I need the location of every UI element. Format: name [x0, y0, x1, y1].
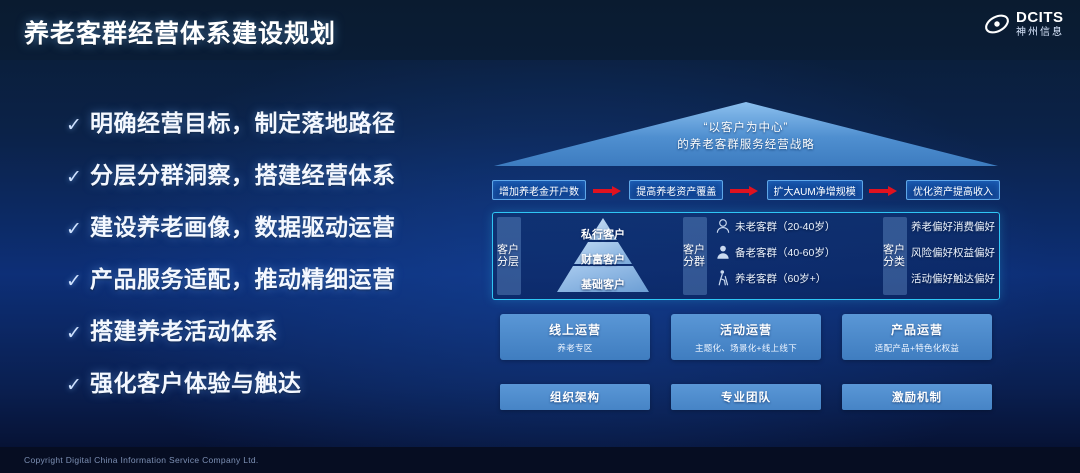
check-icon: ✓	[66, 322, 90, 345]
customer-group-list: 未老客群（20-40岁） 备老客群（40-60岁） 养老客群（60岁+）	[707, 213, 879, 299]
arrow-right-icon	[869, 186, 899, 195]
kpi-box[interactable]: 提高养老资产覆盖	[629, 180, 723, 200]
swirl-logo-icon	[984, 11, 1010, 37]
copyright-text: Copyright Digital China Information Serv…	[24, 455, 259, 465]
kpi-flow-row: 增加养老金开户数 提高养老资产覆盖 扩大AUM净增规模 优化资产提高收入	[492, 180, 1000, 200]
customer-category-tags: 养老偏好 消费偏好 风险偏好 权益偏好 活动偏好 触达偏好	[907, 213, 999, 299]
elderly-cane-icon	[714, 269, 732, 287]
tier-chip-label: 客户分层	[497, 217, 521, 295]
page-header: 养老客群经营体系建设规划 DCITS 神州信息	[0, 0, 1080, 60]
bullet-list: ✓ 明确经营目标，制定落地路径 ✓ 分层分群洞察，搭建经营体系 ✓ 建设养老画像…	[66, 104, 466, 416]
bullet-label: 产品服务适配，推动精细运营	[90, 260, 396, 294]
banner-text: “以客户为中心” 的养老客群服务经营战略	[492, 120, 1000, 153]
operation-card[interactable]: 活动运营 主题化、场景化+线上线下	[671, 314, 821, 360]
customer-segmentation-panel: 客户分层	[492, 212, 1000, 300]
logo-en-label: DCITS	[1016, 10, 1064, 25]
foundation-card[interactable]: 专业团队	[671, 384, 821, 410]
foundation-card[interactable]: 激励机制	[842, 384, 992, 410]
operation-subtitle: 主题化、场景化+线上线下	[695, 342, 797, 354]
arrow-right-icon	[593, 186, 623, 195]
logo-text: DCITS 神州信息	[1016, 10, 1064, 38]
kpi-box[interactable]: 扩大AUM净增规模	[767, 180, 863, 200]
bullet-label: 强化客户体验与触达	[90, 364, 302, 398]
operation-title: 活动运营	[720, 321, 772, 338]
operation-subtitle: 养老专区	[557, 342, 592, 354]
category-tag: 活动偏好	[911, 271, 953, 286]
kpi-box[interactable]: 优化资产提高收入	[906, 180, 1000, 200]
category-chip-label: 客户分类	[883, 217, 907, 295]
tier-level-label: 财富客户	[527, 251, 679, 267]
check-icon: ✓	[66, 166, 90, 189]
bullet-label: 建设养老画像，数据驱动运营	[90, 208, 396, 242]
strategy-diagram: “以客户为中心” 的养老客群服务经营战略 增加养老金开户数 提高养老资产覆盖 扩…	[492, 96, 1000, 426]
foundation-row: 组织架构 专业团队 激励机制	[500, 384, 992, 410]
check-icon: ✓	[66, 218, 90, 241]
group-item: 养老客群（60岁+）	[714, 265, 879, 291]
adult-person-icon	[714, 243, 732, 261]
bullet-item: ✓ 分层分群洞察，搭建经营体系	[66, 156, 466, 190]
bullet-item: ✓ 产品服务适配，推动精细运营	[66, 260, 466, 294]
kpi-box[interactable]: 增加养老金开户数	[492, 180, 586, 200]
bullet-label: 分层分群洞察，搭建经营体系	[90, 156, 396, 190]
arrow-right-icon	[730, 186, 760, 195]
bullet-label: 搭建养老活动体系	[90, 312, 278, 346]
category-tag: 权益偏好	[953, 245, 995, 260]
operation-title: 线上运营	[549, 321, 601, 338]
check-icon: ✓	[66, 270, 90, 293]
tier-level-label: 基础客户	[527, 276, 679, 292]
logo-cn-label: 神州信息	[1016, 28, 1064, 38]
bullet-item: ✓ 明确经营目标，制定落地路径	[66, 104, 466, 138]
bullet-item: ✓ 建设养老画像，数据驱动运营	[66, 208, 466, 242]
foundation-card[interactable]: 组织架构	[500, 384, 650, 410]
customer-tier-pyramid: 私行客户 财富客户 基础客户	[527, 214, 679, 298]
category-tag: 触达偏好	[953, 271, 995, 286]
operation-subtitle: 适配产品+特色化权益	[875, 342, 959, 354]
operation-title: 产品运营	[891, 321, 943, 338]
category-tag: 风险偏好	[911, 245, 953, 260]
operation-card[interactable]: 产品运营 适配产品+特色化权益	[842, 314, 992, 360]
check-icon: ✓	[66, 374, 90, 397]
check-icon: ✓	[66, 114, 90, 137]
tier-section: 私行客户 财富客户 基础客户	[521, 213, 679, 299]
banner-line-1: “以客户为中心”	[492, 120, 1000, 137]
page-title: 养老客群经营体系建设规划	[24, 14, 336, 50]
company-logo: DCITS 神州信息	[984, 10, 1064, 38]
operation-card[interactable]: 线上运营 养老专区	[500, 314, 650, 360]
bullet-item: ✓ 强化客户体验与触达	[66, 364, 466, 398]
group-chip-label: 客户分群	[683, 217, 707, 295]
operations-row: 线上运营 养老专区 活动运营 主题化、场景化+线上线下 产品运营 适配产品+特色…	[500, 314, 992, 360]
bullet-label: 明确经营目标，制定落地路径	[90, 104, 396, 138]
banner-line-2: 的养老客群服务经营战略	[492, 137, 1000, 154]
group-label: 备老客群（40-60岁）	[735, 245, 835, 260]
group-label: 养老客群（60岁+）	[735, 271, 826, 286]
strategy-banner: “以客户为中心” 的养老客群服务经营战略	[492, 96, 1000, 174]
page-footer: Copyright Digital China Information Serv…	[0, 447, 1080, 473]
group-item: 未老客群（20-40岁）	[714, 213, 879, 239]
bullet-item: ✓ 搭建养老活动体系	[66, 312, 466, 346]
young-person-icon	[714, 217, 732, 235]
category-tag: 消费偏好	[953, 219, 995, 234]
group-label: 未老客群（20-40岁）	[735, 219, 835, 234]
group-item: 备老客群（40-60岁）	[714, 239, 879, 265]
tier-level-label: 私行客户	[527, 226, 679, 242]
category-tag: 养老偏好	[911, 219, 953, 234]
